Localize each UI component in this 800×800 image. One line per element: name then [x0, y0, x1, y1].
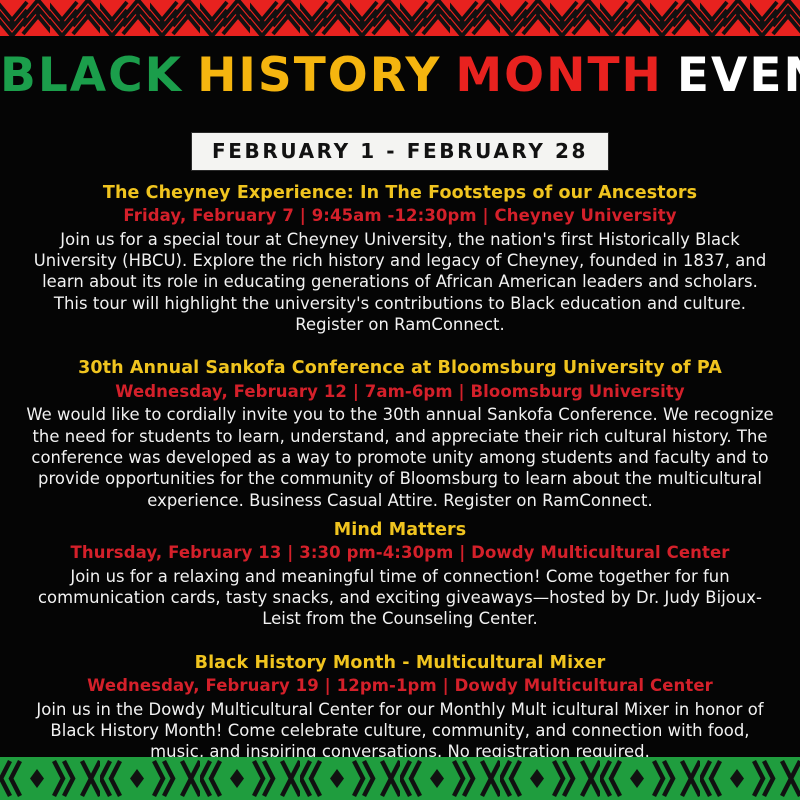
event-item: The Cheyney Experience: In The Footsteps… [24, 182, 776, 335]
event-description: Join us for a special tour at Cheyney Un… [24, 229, 776, 336]
event-description: We would like to cordially invite you to… [24, 404, 776, 511]
title-word-month: MONTH [455, 52, 662, 99]
event-list: The Cheyney Experience: In The Footsteps… [24, 182, 776, 763]
top-pattern-border [0, 0, 800, 36]
event-datetime-location: Wednesday, February 19 | 12pm-1pm | Dowd… [24, 675, 776, 696]
event-description: Join us in the Dowdy Multicultural Cente… [24, 699, 776, 763]
event-title: The Cheyney Experience: In The Footsteps… [24, 182, 776, 204]
title-word-history: HISTORY [197, 52, 441, 99]
title-word-black: BLACK [0, 52, 183, 99]
event-datetime-location: Thursday, February 13 | 3:30 pm-4:30pm |… [24, 542, 776, 563]
event-datetime-location: Friday, February 7 | 9:45am -12:30pm | C… [24, 205, 776, 226]
event-title: 30th Annual Sankofa Conference at Blooms… [24, 357, 776, 379]
page-title: BLACKHISTORYMONTHEVENTS [0, 52, 800, 99]
event-item: Mind Matters Thursday, February 13 | 3:3… [24, 519, 776, 630]
event-description: Join us for a relaxing and meaningful ti… [24, 566, 776, 630]
event-item: 30th Annual Sankofa Conference at Blooms… [24, 357, 776, 510]
black-history-month-flyer: BLACKHISTORYMONTHEVENTS FEBRUARY 1 - FEB… [0, 0, 800, 800]
event-title: Mind Matters [24, 519, 776, 541]
event-item: Black History Month - Multicultural Mixe… [24, 652, 776, 763]
event-title: Black History Month - Multicultural Mixe… [24, 652, 776, 674]
date-range-banner: FEBRUARY 1 - FEBRUARY 28 [192, 133, 608, 170]
event-datetime-location: Wednesday, February 12 | 7am-6pm | Bloom… [24, 381, 776, 402]
bottom-pattern-border [0, 757, 800, 800]
title-word-events: EVENTS [677, 52, 800, 99]
